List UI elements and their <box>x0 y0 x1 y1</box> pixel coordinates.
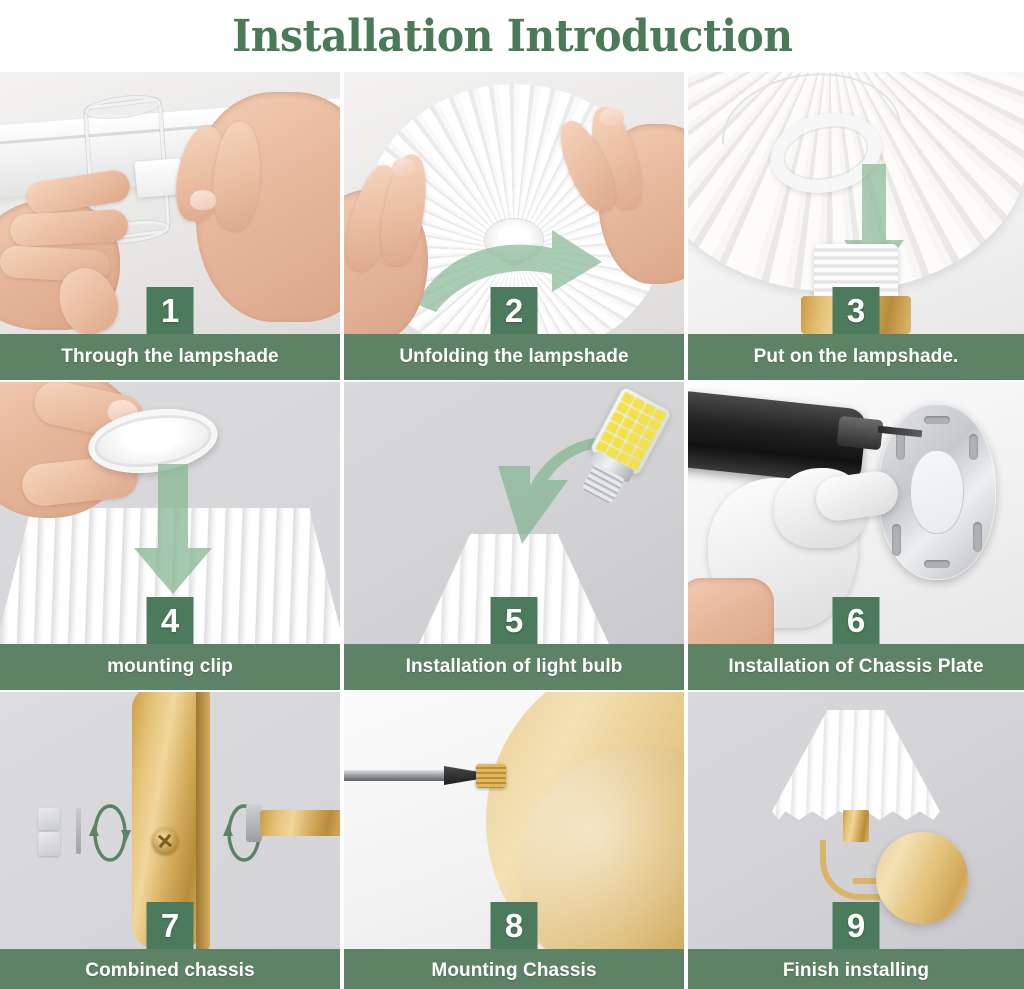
step-caption-3: Put on the lampshade. <box>688 334 1024 380</box>
hardware-part-lower <box>38 832 60 856</box>
step-caption-9: Finish installing <box>688 949 1024 989</box>
left-middle-finger <box>9 209 129 247</box>
steps-grid: 1 Through the lampshade <box>0 72 1024 989</box>
right-fingernail <box>600 108 624 126</box>
step-caption-6: Installation of Chassis Plate <box>688 644 1024 690</box>
step-number-badge-4: 4 <box>147 597 194 644</box>
step-number-badge-8: 8 <box>491 902 538 949</box>
plate-slot <box>924 416 950 424</box>
step-caption-8: Mounting Chassis <box>344 949 684 989</box>
step-card-9: 9 Finish installing <box>688 692 1024 989</box>
forearm <box>688 578 774 644</box>
step-number-badge-7: 7 <box>147 902 194 949</box>
hardware-pin <box>76 808 81 854</box>
step-card-8: 8 Mounting Chassis <box>344 692 684 989</box>
page-title: Installation Introduction <box>232 11 792 62</box>
brass-arm <box>260 810 340 836</box>
installation-introduction-page: Installation Introduction <box>0 0 1024 989</box>
chassis-disc-rim <box>196 692 210 949</box>
step-caption-7: Combined chassis <box>0 949 340 989</box>
step-card-2: 2 Unfolding the lampshade <box>344 72 684 380</box>
plate-slot <box>969 434 978 460</box>
step-card-7: 7 Combined chassis <box>0 692 340 989</box>
rotation-loop-icon-left <box>88 802 132 864</box>
sconce-backplate <box>876 832 968 924</box>
step-number-badge-2: 2 <box>491 287 538 334</box>
right-index-nail <box>190 190 216 210</box>
step-caption-2: Unfolding the lampshade <box>344 334 684 380</box>
brass-screw <box>476 764 506 788</box>
shade-socket-collar <box>843 810 869 842</box>
screwdriver-tip <box>444 766 480 785</box>
plate-slot <box>924 560 950 568</box>
step-number-badge-1: 1 <box>147 287 194 334</box>
title-bar: Installation Introduction <box>0 0 1024 72</box>
step-card-3: 3 Put on the lampshade. <box>688 72 1024 380</box>
plate-slot <box>892 524 901 556</box>
step-card-5: 5 Installation of light bulb <box>344 382 684 690</box>
plate-slot <box>973 522 982 552</box>
step-card-1: 1 Through the lampshade <box>0 72 340 380</box>
hardware-part-upper <box>38 808 60 830</box>
step-caption-1: Through the lampshade <box>0 334 340 380</box>
step-number-badge-6: 6 <box>833 597 880 644</box>
screwdriver-shaft <box>344 770 450 781</box>
left-fingernail <box>392 158 416 176</box>
step-number-badge-9: 9 <box>833 902 880 949</box>
down-arrow-icon <box>130 464 216 596</box>
step-number-badge-5: 5 <box>491 597 538 644</box>
step-number-badge-3: 3 <box>833 287 880 334</box>
drill-chuck <box>837 416 884 450</box>
pleated-lampshade <box>772 710 940 820</box>
step-card-6: 6 Installation of Chassis Plate <box>688 382 1024 690</box>
step-caption-5: Installation of light bulb <box>344 644 684 690</box>
step-card-4: 4 mounting clip <box>0 382 340 690</box>
chassis-screw <box>152 828 178 854</box>
step-caption-4: mounting clip <box>0 644 340 690</box>
